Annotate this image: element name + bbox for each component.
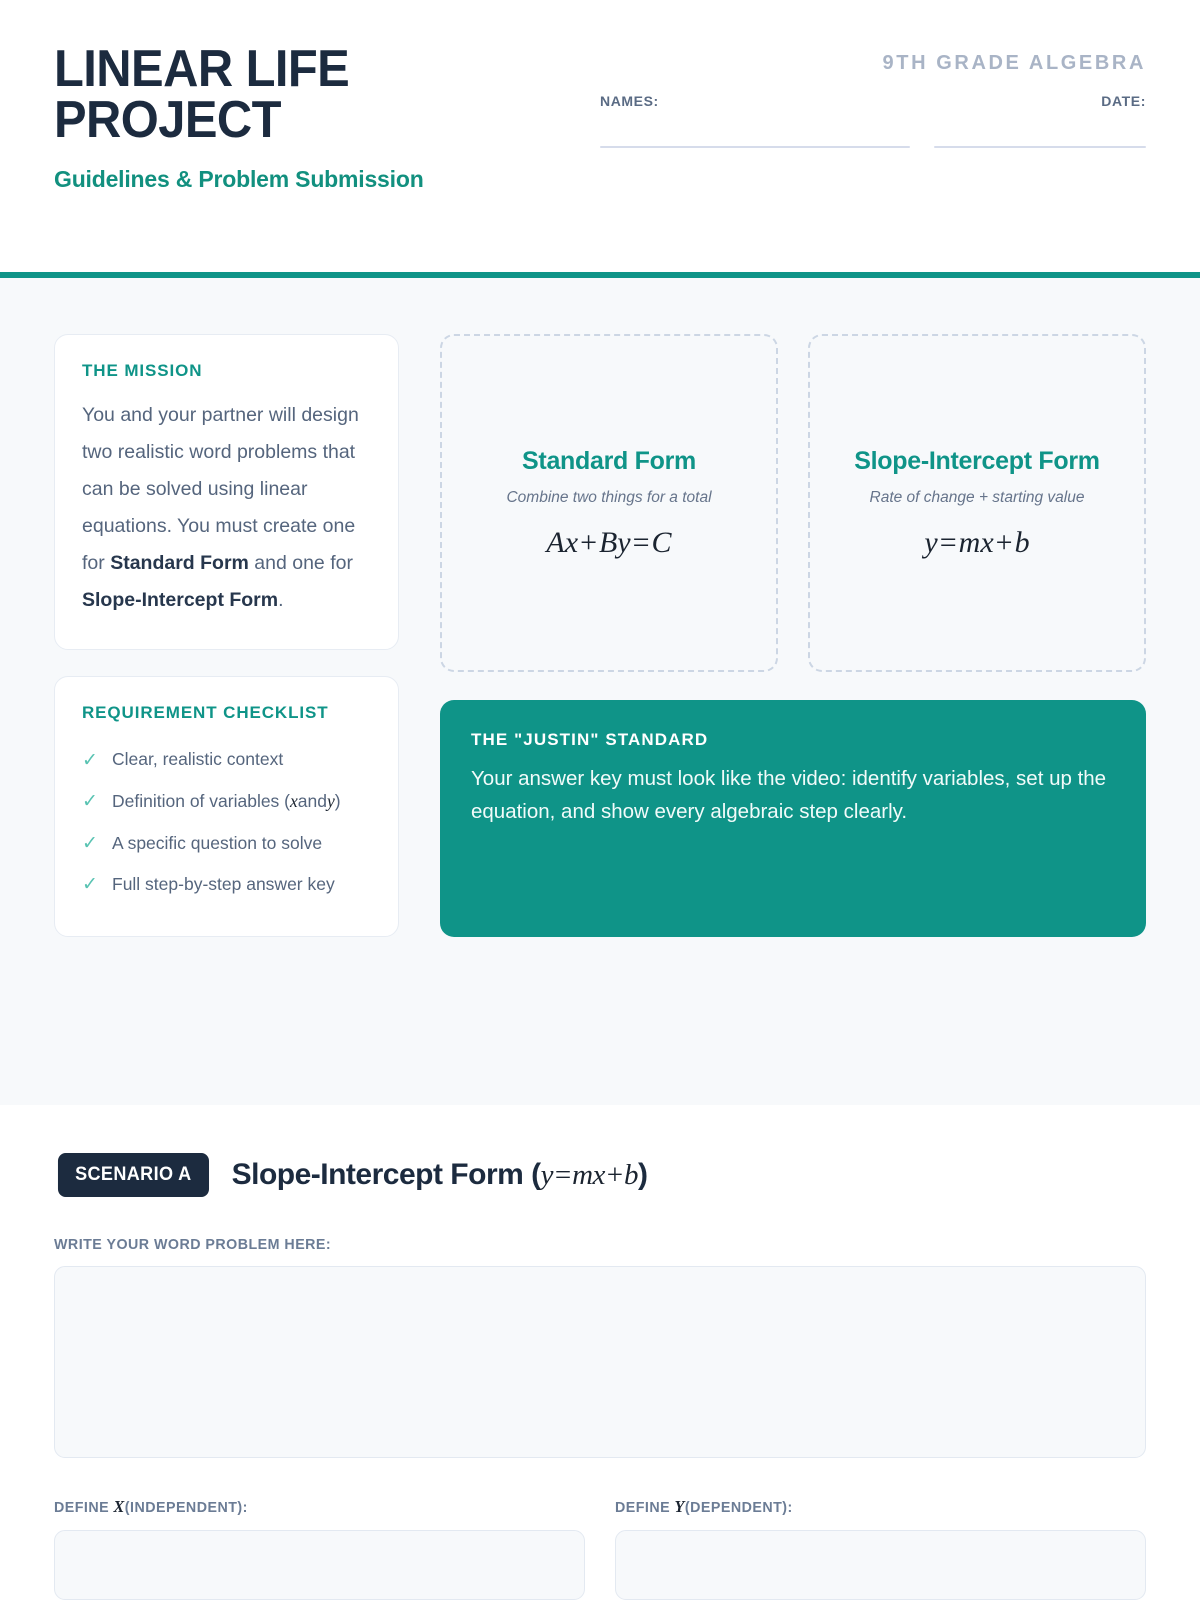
checklist-item-text-before: Definition of variables ( [112, 791, 290, 811]
checklist-item-label: A specific question to solve [112, 832, 371, 856]
math-plus: + [605, 1159, 624, 1191]
names-label: NAMES: [600, 93, 910, 109]
mission-text-1: You and your partner will design two rea… [82, 404, 359, 574]
standard-form-hint: Combine two things for a total [506, 489, 711, 507]
scenario-a-title: Slope-Intercept Form (y=mx+b) [232, 1158, 648, 1192]
mission-text-2: and one for [249, 552, 353, 574]
eq-operator: = [631, 526, 652, 559]
eq-operator: + [578, 526, 599, 559]
page-title: LINEAR LIFE PROJECT [54, 44, 567, 146]
mission-card-body: You and your partner will design two rea… [82, 397, 371, 619]
teal-divider-bar [0, 272, 1200, 278]
date-field[interactable]: DATE: [934, 93, 1146, 148]
eq-operator: + [994, 526, 1015, 559]
mission-bold-2: Slope-Intercept Form [82, 589, 278, 611]
slope-intercept-form-hint: Rate of change + starting value [870, 489, 1085, 507]
define-y-group: DEFINE Y(DEPENDENT): [615, 1458, 1146, 1600]
define-x-prefix: DEFINE [54, 1499, 114, 1516]
slope-intercept-form-title: Slope-Intercept Form [854, 447, 1099, 476]
define-x-suffix: (INDEPENDENT): [125, 1499, 248, 1516]
check-icon: ✓ [82, 792, 99, 811]
scenario-title-close: ) [638, 1158, 648, 1191]
status-badge: SCENARIO A [58, 1153, 209, 1197]
justin-standard-card: THE "JUSTIN" STANDARD Your answer key mu… [440, 700, 1146, 937]
define-variables-row: DEFINE X(INDEPENDENT): DEFINE Y(DEPENDEN… [54, 1458, 1146, 1600]
eq-operator: = [938, 526, 959, 559]
define-x-input[interactable] [54, 1530, 585, 1600]
word-problem-input[interactable] [54, 1266, 1146, 1458]
checklist-item-label: Clear, realistic context [112, 748, 371, 772]
math-variable-b: b [624, 1159, 638, 1191]
math-variable-x: x [290, 791, 298, 811]
checklist-item-label: Definition of variables (xandy) [112, 790, 371, 814]
checklist-card-title: REQUIREMENT CHECKLIST [82, 703, 371, 723]
scenario-a-header: SCENARIO A Slope-Intercept Form (y=mx+b) [54, 1153, 1146, 1197]
justin-standard-title: THE "JUSTIN" STANDARD [471, 730, 1115, 750]
list-item[interactable]: ✓ A specific question to solve [82, 823, 371, 865]
check-icon: ✓ [82, 751, 99, 770]
eq-term: b [1015, 526, 1030, 559]
course-label: 9TH GRADE ALGEBRA [600, 52, 1146, 75]
scenario-title-text: Slope-Intercept Form ( [232, 1158, 541, 1191]
checklist-item-text-after: ) [335, 791, 341, 811]
date-label: DATE: [934, 93, 1146, 109]
define-y-suffix: (DEPENDENT): [685, 1499, 793, 1516]
math-variable-X: X [114, 1497, 125, 1516]
check-icon: ✓ [82, 834, 99, 853]
mission-text-3: . [278, 589, 283, 611]
mission-card-title: THE MISSION [82, 361, 371, 381]
scenario-a-section: SCENARIO A Slope-Intercept Form (y=mx+b)… [0, 1105, 1200, 1600]
standard-form-card: Standard Form Combine two things for a t… [440, 334, 778, 672]
title-block: LINEAR LIFE PROJECT Guidelines & Problem… [54, 44, 600, 193]
names-field[interactable]: NAMES: [600, 93, 910, 148]
names-rule[interactable] [600, 146, 910, 148]
define-y-input[interactable] [615, 1530, 1146, 1600]
worksheet-page: LINEAR LIFE PROJECT Guidelines & Problem… [0, 0, 1200, 1600]
justin-standard-body: Your answer key must look like the video… [471, 763, 1115, 829]
header-meta: 9TH GRADE ALGEBRA NAMES: DATE: [600, 44, 1146, 148]
eq-term: By [599, 526, 631, 559]
guidelines-section: THE MISSION You and your partner will de… [0, 278, 1200, 1105]
guidelines-right-column: Standard Form Combine two things for a t… [440, 334, 1146, 937]
slope-intercept-form-equation: y=mx+b [924, 526, 1029, 560]
list-item[interactable]: ✓ Clear, realistic context [82, 739, 371, 781]
mission-card: THE MISSION You and your partner will de… [54, 334, 399, 650]
math-variable-y: y [541, 1159, 553, 1191]
define-y-label: DEFINE Y(DEPENDENT): [615, 1497, 1119, 1517]
date-rule[interactable] [934, 146, 1146, 148]
standard-form-equation: Ax+By=C [546, 526, 671, 560]
math-variable-y: y [327, 791, 335, 811]
page-header: LINEAR LIFE PROJECT Guidelines & Problem… [0, 0, 1200, 278]
eq-term: C [652, 526, 672, 559]
check-icon: ✓ [82, 875, 99, 894]
standard-form-title: Standard Form [522, 447, 696, 476]
checklist-item-conjunction: and [298, 791, 327, 811]
guidelines-left-column: THE MISSION You and your partner will de… [54, 334, 399, 937]
slope-intercept-form-card: Slope-Intercept Form Rate of change + st… [808, 334, 1146, 672]
eq-term: Ax [546, 526, 578, 559]
eq-term: mx [959, 526, 994, 559]
formula-cards: Standard Form Combine two things for a t… [440, 334, 1146, 672]
define-y-prefix: DEFINE [615, 1499, 675, 1516]
math-equals: = [553, 1159, 572, 1191]
page-subtitle: Guidelines & Problem Submission [54, 166, 600, 193]
math-variable-Y: Y [675, 1497, 685, 1516]
define-x-label: DEFINE X(INDEPENDENT): [54, 1497, 558, 1517]
define-x-group: DEFINE X(INDEPENDENT): [54, 1458, 585, 1600]
mission-bold-1: Standard Form [110, 552, 249, 574]
math-term-mx: mx [572, 1159, 605, 1191]
list-item[interactable]: ✓ Full step-by-step answer key [82, 864, 371, 906]
word-problem-label: WRITE YOUR WORD PROBLEM HERE: [54, 1236, 1091, 1253]
eq-term: y [924, 526, 937, 559]
checklist-card: REQUIREMENT CHECKLIST ✓ Clear, realistic… [54, 676, 399, 937]
checklist-item-label: Full step-by-step answer key [112, 873, 371, 897]
requirement-checklist: ✓ Clear, realistic context ✓ Definition … [82, 739, 371, 906]
list-item[interactable]: ✓ Definition of variables (xandy) [82, 781, 371, 823]
